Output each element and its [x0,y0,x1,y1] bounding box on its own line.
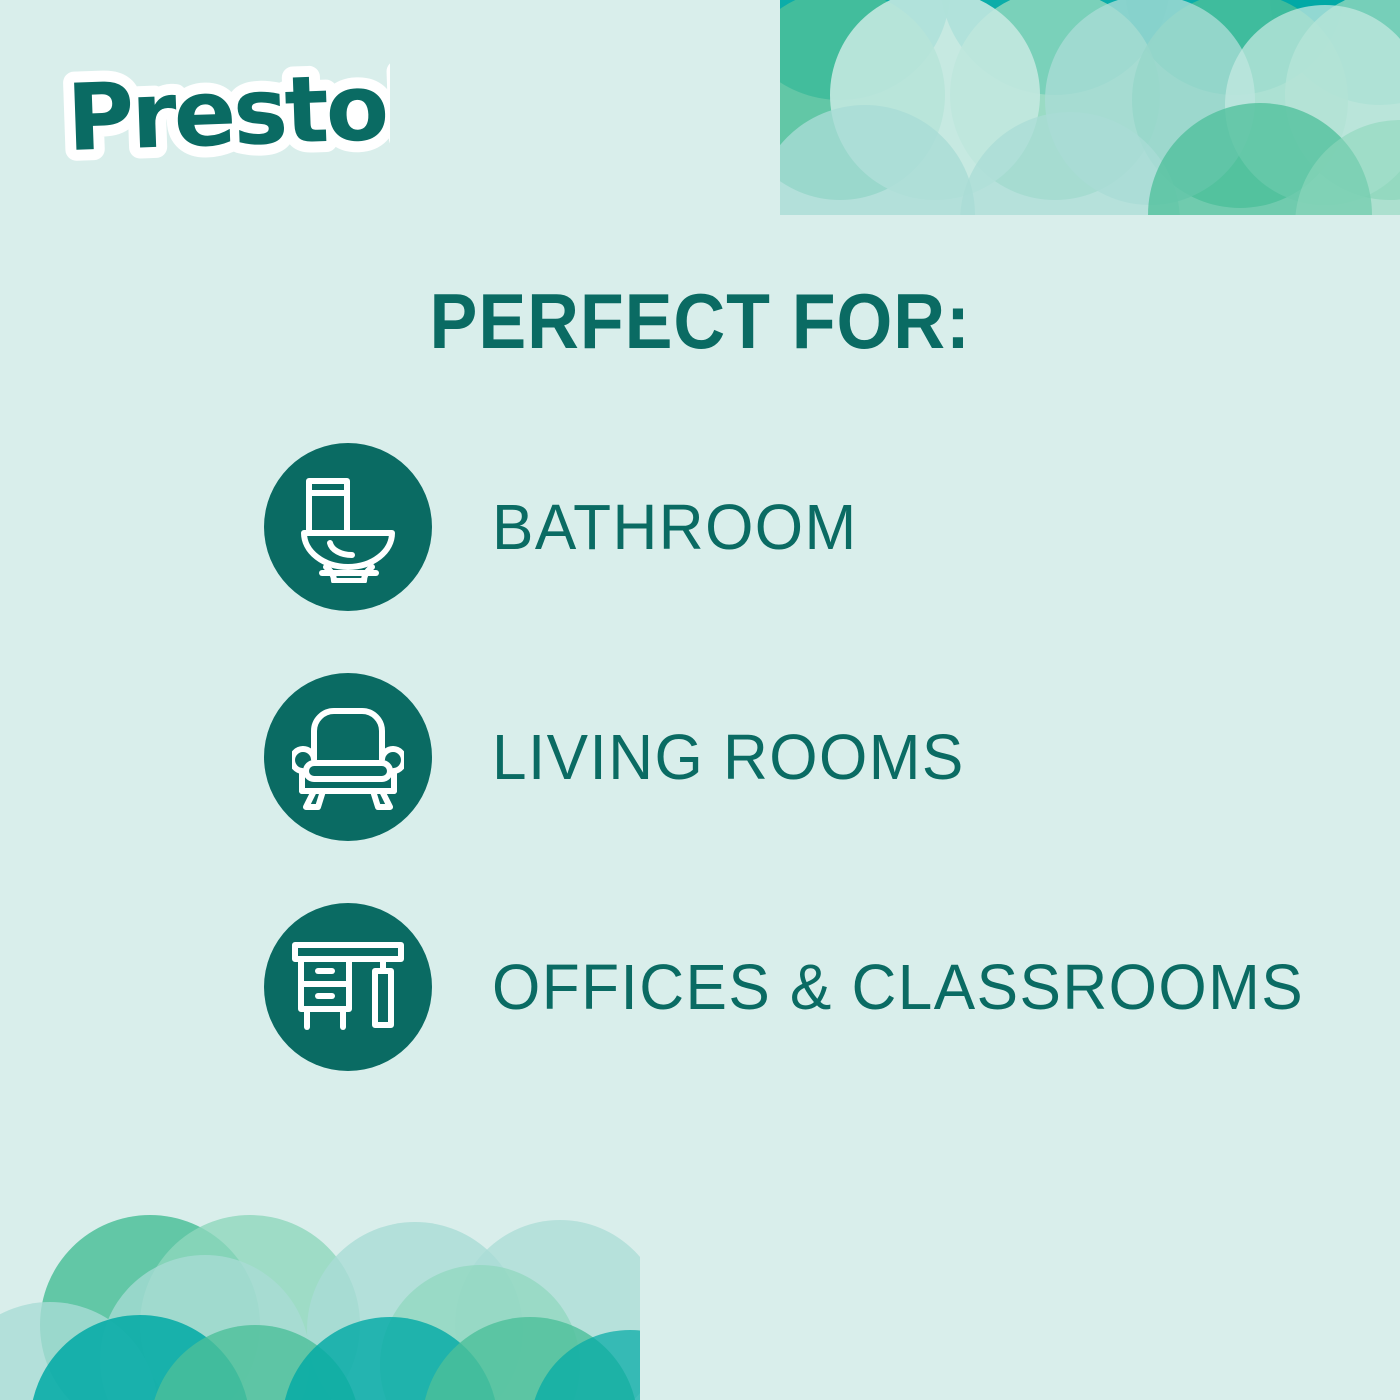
armchair-icon [292,701,404,813]
feature-label-bathroom: BATHROOM [492,495,858,559]
infographic-page: Presto! Presto! PERFECT FOR: [0,0,1400,1400]
feature-icon-badge-offices-classrooms [264,903,432,1071]
feature-label-offices-classrooms: OFFICES & CLASSROOMS [492,955,1304,1019]
feature-list: BATHROOM [264,443,1324,1071]
feature-label-living-rooms: LIVING ROOMS [492,725,965,789]
presto-logo: Presto! Presto! [60,58,390,178]
decorative-circle-pattern-bottom-left [0,1175,640,1400]
decorative-circle-pattern-top-right [780,0,1400,215]
logo-wordmark: Presto! [65,58,390,172]
feature-row-bathroom: BATHROOM [264,443,1324,611]
feature-icon-badge-living-rooms [264,673,432,841]
desk-icon [291,939,405,1035]
feature-row-living-rooms: LIVING ROOMS [264,673,1324,841]
page-title: PERFECT FOR: [0,282,1400,360]
feature-icon-badge-bathroom [264,443,432,611]
page-title-text: PERFECT FOR: [429,282,970,360]
feature-row-offices-classrooms: OFFICES & CLASSROOMS [264,903,1324,1071]
toilet-icon [296,471,400,583]
